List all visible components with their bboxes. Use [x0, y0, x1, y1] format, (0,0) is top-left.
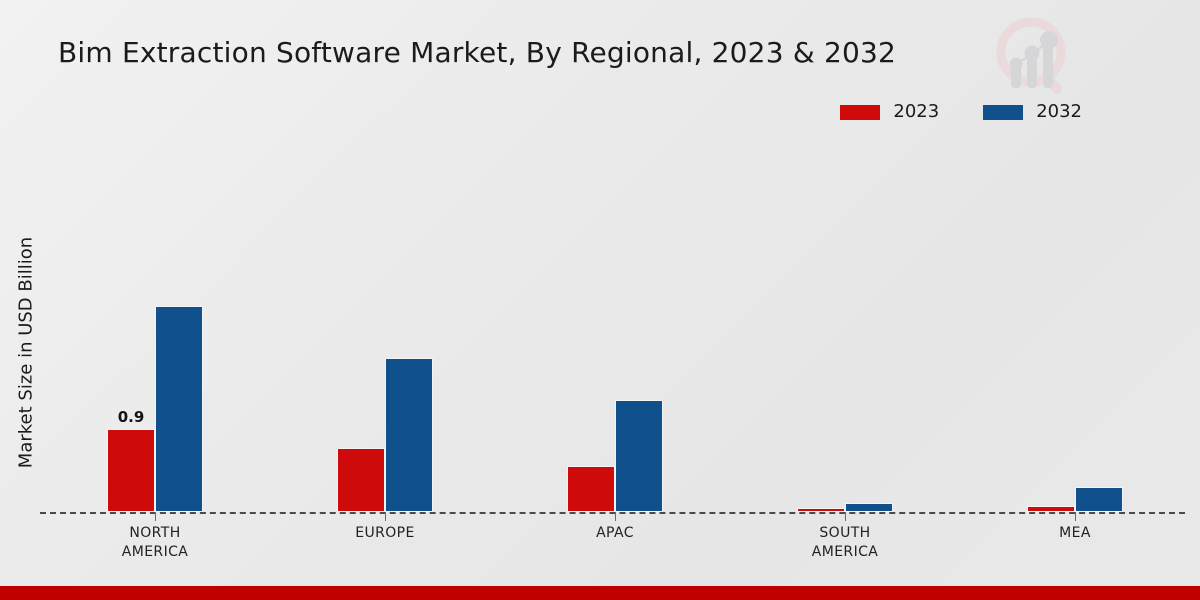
watermark-logo — [985, 12, 1080, 100]
chart-title: Bim Extraction Software Market, By Regio… — [58, 36, 896, 69]
bar-group-south-america — [797, 139, 893, 512]
bar-group-mea — [1027, 139, 1123, 512]
bar-2023-europe[interactable] — [337, 448, 385, 512]
x-label-europe: EUROPE — [295, 524, 475, 543]
x-tick-mea — [1075, 512, 1076, 521]
bar-2023-apac[interactable] — [567, 466, 615, 512]
plot-area: 0.9 NORTH AMERICA EUROPE APAC — [40, 140, 1200, 513]
x-label-south-america: SOUTH AMERICA — [755, 524, 935, 562]
chart-legend: 2023 2032 — [840, 103, 1082, 121]
x-label-apac-line-1: APAC — [525, 524, 705, 543]
legend-swatch-2032 — [983, 105, 1023, 120]
bar-2032-mea[interactable] — [1075, 487, 1123, 512]
footer-accent-bar — [0, 586, 1200, 600]
x-label-north-america-line-2: AMERICA — [65, 543, 245, 562]
x-label-apac: APAC — [525, 524, 705, 543]
x-label-south-america-line-1: SOUTH — [755, 524, 935, 543]
bar-group-apac — [567, 139, 663, 512]
bar-2032-europe[interactable] — [385, 358, 433, 512]
bar-value-label-2023-north-america: 0.9 — [104, 408, 158, 426]
magnifier-icon — [1001, 22, 1064, 96]
x-tick-north-america — [155, 512, 156, 521]
x-label-europe-line-1: EUROPE — [295, 524, 475, 543]
y-axis-title: Market Size in USD Billion — [16, 188, 37, 518]
bar-2023-north-america[interactable] — [107, 429, 155, 512]
bar-chart-icon — [1010, 31, 1059, 88]
bar-2032-apac[interactable] — [615, 400, 663, 512]
x-label-north-america-line-1: NORTH — [65, 524, 245, 543]
x-label-north-america: NORTH AMERICA — [65, 524, 245, 562]
bar-2032-south-america[interactable] — [845, 503, 893, 512]
x-tick-apac — [615, 512, 616, 521]
legend-item-2023[interactable]: 2023 — [840, 103, 939, 121]
x-label-mea: MEA — [985, 524, 1165, 543]
x-axis-baseline — [40, 512, 1185, 514]
x-tick-europe — [385, 512, 386, 521]
x-label-south-america-line-2: AMERICA — [755, 543, 935, 562]
bar-2023-south-america[interactable] — [797, 508, 845, 512]
bar-2032-north-america[interactable] — [155, 306, 203, 512]
legend-label-2023: 2023 — [893, 103, 939, 121]
bar-2023-mea[interactable] — [1027, 506, 1075, 512]
chart-container: Bim Extraction Software Market, By Regio… — [0, 0, 1200, 600]
bar-group-north-america: 0.9 — [107, 139, 203, 512]
bar-group-europe — [337, 139, 433, 512]
legend-label-2032: 2032 — [1036, 103, 1082, 121]
legend-item-2032[interactable]: 2032 — [983, 103, 1082, 121]
x-label-mea-line-1: MEA — [985, 524, 1165, 543]
legend-swatch-2023 — [840, 105, 880, 120]
x-tick-south-america — [845, 512, 846, 521]
